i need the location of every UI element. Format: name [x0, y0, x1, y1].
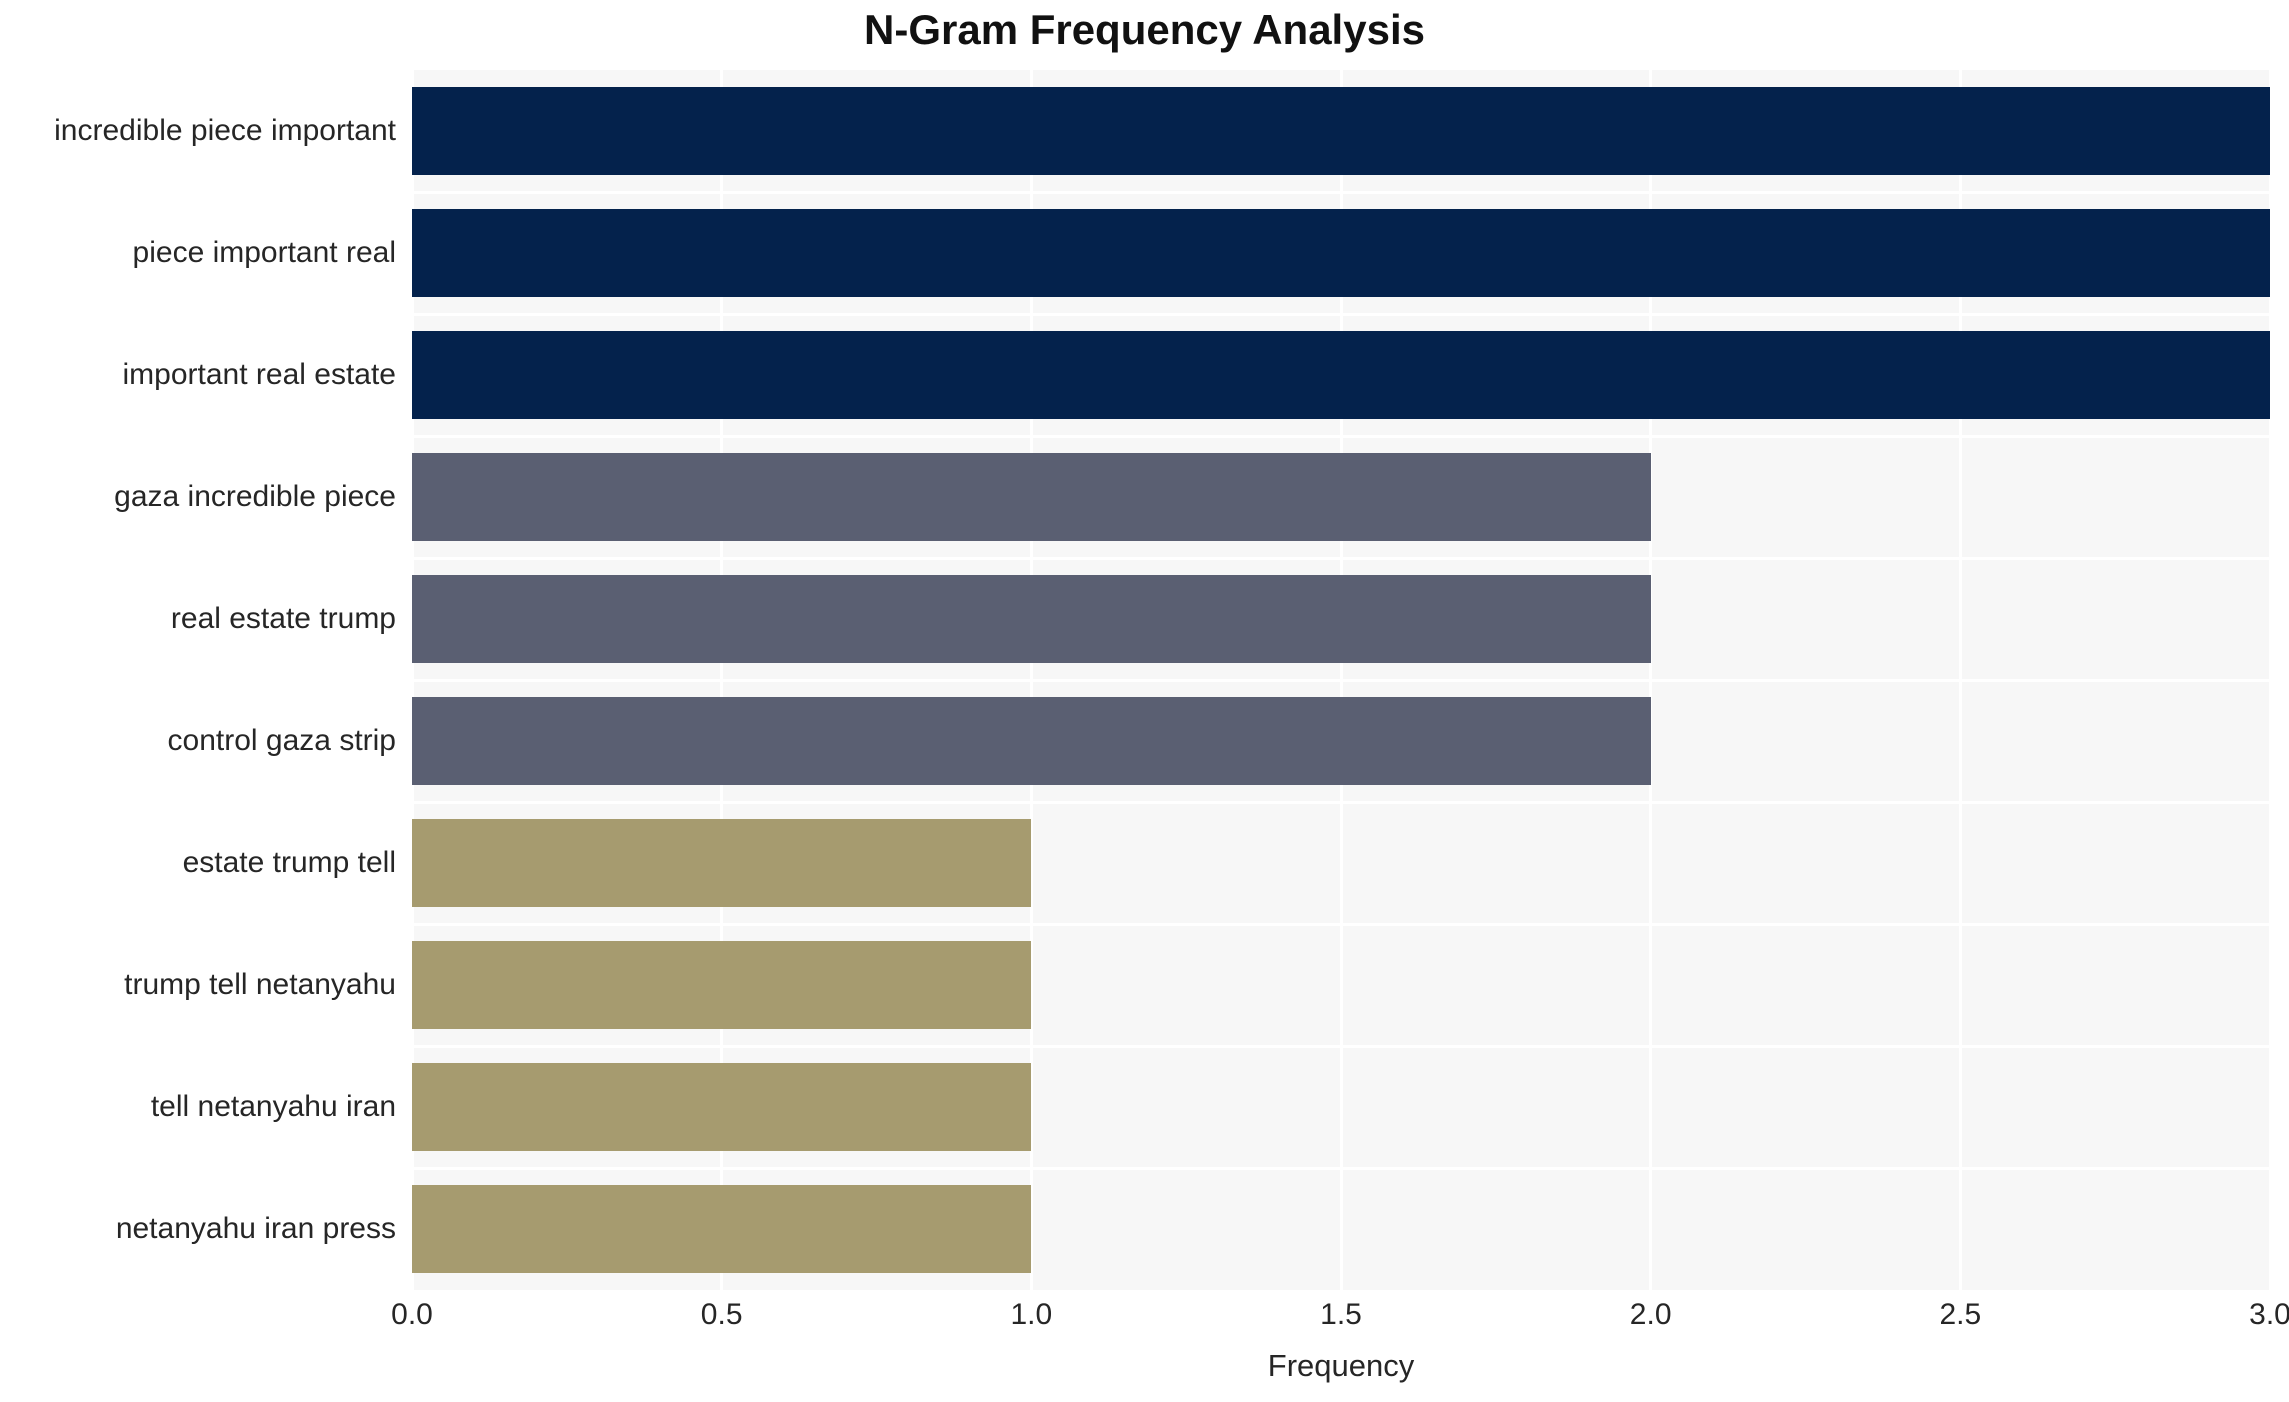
gridline-horizontal — [412, 557, 2270, 560]
y-tick-label: real estate trump — [0, 604, 396, 634]
x-axis: 0.00.51.01.52.02.53.0 — [412, 1298, 2270, 1344]
y-axis: incredible piece importantpiece importan… — [0, 70, 396, 1290]
x-tick-label: 2.0 — [1630, 1298, 1672, 1332]
x-tick-label: 0.0 — [391, 1298, 433, 1332]
bar — [412, 87, 2270, 175]
gridline-horizontal — [412, 313, 2270, 316]
y-tick-label: trump tell netanyahu — [0, 970, 396, 1000]
bar — [412, 1185, 1031, 1273]
y-tick-label: piece important real — [0, 238, 396, 268]
gridline-horizontal — [412, 435, 2270, 438]
y-tick-label: incredible piece important — [0, 116, 396, 146]
gridline-horizontal — [412, 923, 2270, 926]
page-title: N-Gram Frequency Analysis — [0, 6, 2289, 54]
gridline-horizontal — [412, 801, 2270, 804]
gridline-horizontal — [412, 679, 2270, 682]
plot-area — [412, 70, 2270, 1290]
gridline-horizontal — [412, 191, 2270, 194]
y-tick-label: gaza incredible piece — [0, 482, 396, 512]
gridline-horizontal — [412, 1167, 2270, 1170]
y-tick-label: important real estate — [0, 360, 396, 390]
bar — [412, 697, 1651, 785]
bar — [412, 819, 1031, 907]
x-tick-label: 3.0 — [2249, 1298, 2289, 1332]
x-tick-label: 2.5 — [1939, 1298, 1981, 1332]
x-tick-label: 1.5 — [1320, 1298, 1362, 1332]
bar — [412, 1063, 1031, 1151]
y-tick-label: netanyahu iran press — [0, 1214, 396, 1244]
bar — [412, 209, 2270, 297]
y-tick-label: tell netanyahu iran — [0, 1092, 396, 1122]
bar — [412, 331, 2270, 419]
x-tick-label: 1.0 — [1010, 1298, 1052, 1332]
chart-figure: N-Gram Frequency Analysis incredible pie… — [0, 0, 2289, 1402]
gridline-horizontal — [412, 1045, 2270, 1048]
bar — [412, 575, 1651, 663]
y-tick-label: estate trump tell — [0, 848, 396, 878]
x-tick-label: 0.5 — [701, 1298, 743, 1332]
bar — [412, 453, 1651, 541]
x-axis-title: Frequency — [412, 1348, 2270, 1384]
y-tick-label: control gaza strip — [0, 726, 396, 756]
bar — [412, 941, 1031, 1029]
